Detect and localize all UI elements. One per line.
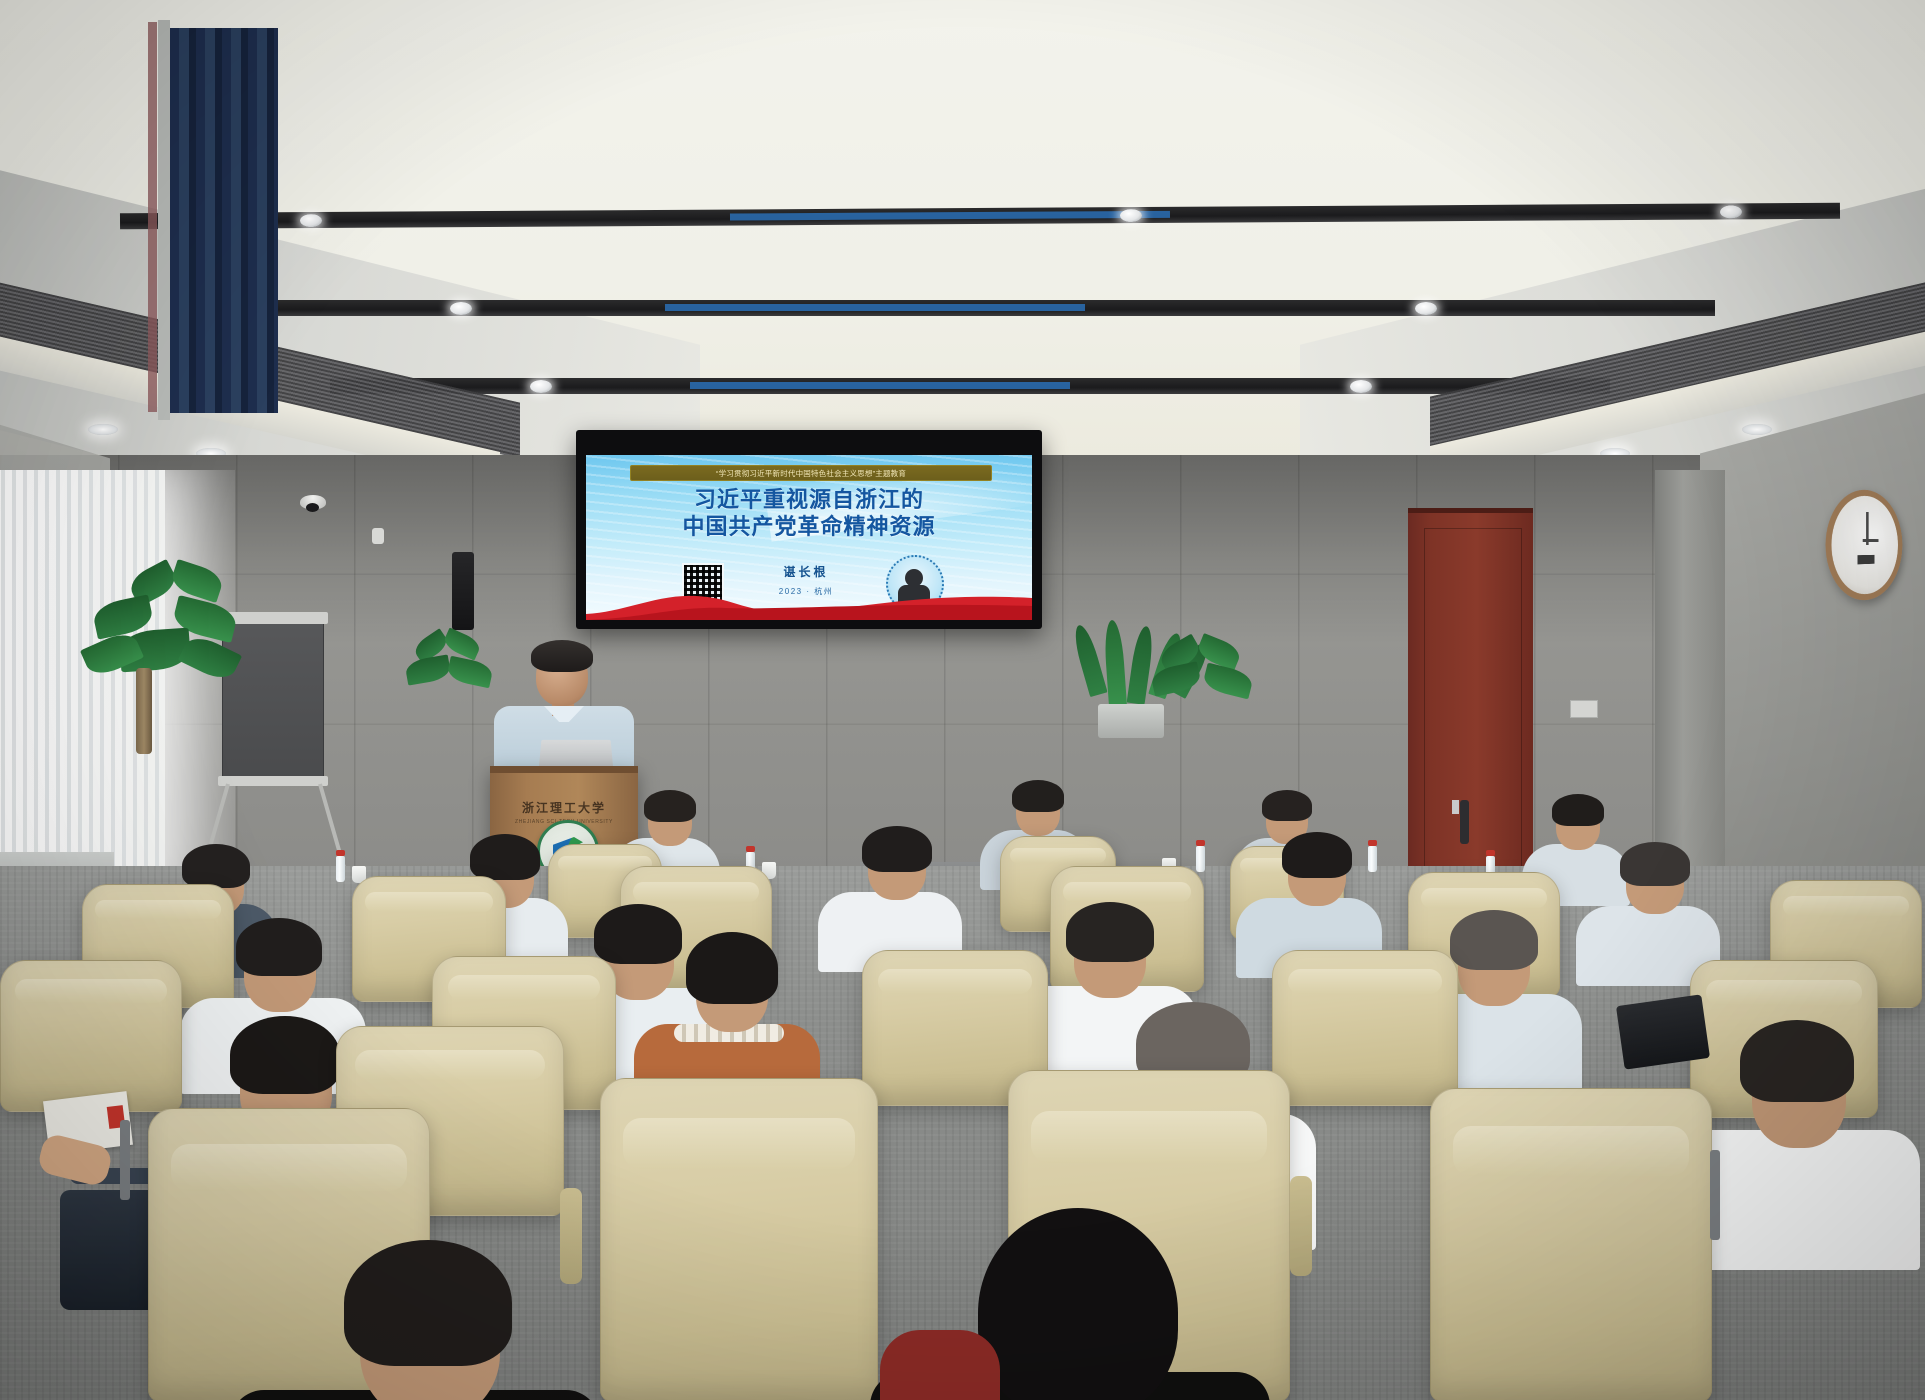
- audience-chair[interactable]: [0, 960, 182, 1112]
- slide-title-block: 习近平重视源自浙江的 中国共产党革命精神资源: [586, 487, 1032, 541]
- door-handle[interactable]: [1460, 800, 1469, 844]
- water-bottle: [1368, 846, 1377, 872]
- potted-plant-left: [70, 560, 270, 760]
- window-frame: [158, 20, 170, 420]
- bottle-cap: [1196, 840, 1205, 846]
- chair-arm: [560, 1188, 582, 1284]
- bottle-cap: [1368, 840, 1377, 846]
- potted-plant-right-2: [1150, 640, 1280, 770]
- light-switch[interactable]: [1570, 700, 1598, 718]
- door-panel: [1424, 528, 1522, 902]
- slide-title-line2: 中国共产党革命精神资源: [586, 514, 1032, 541]
- door-lock-plate: [1452, 800, 1459, 814]
- audience-chair[interactable]: [1430, 1088, 1712, 1400]
- slide-red-ribbon: [586, 584, 1032, 620]
- ceiling-light-strip-2: [235, 300, 1715, 316]
- speaker-hair: [531, 640, 593, 672]
- projection-screen-bottom-bar: [218, 776, 328, 786]
- chair-leg: [120, 1120, 130, 1200]
- podium-university-name: 浙江理工大学: [490, 799, 638, 816]
- audience-chair[interactable]: [1272, 950, 1458, 1106]
- wall-camera-icon: [372, 528, 384, 544]
- presentation-slide: “学习贯彻习近平新时代中国特色社会主义思想”主题教育 习近平重视源自浙江的 中国…: [586, 455, 1032, 620]
- wall-speaker-left: [452, 552, 474, 630]
- bottle-cap: [336, 850, 345, 856]
- bottle-cap: [746, 846, 755, 852]
- water-bottle: [1196, 846, 1205, 872]
- slide-banner-text: “学习贯彻习近平新时代中国特色社会主义思想”主题教育: [716, 468, 906, 479]
- ceiling-light-strip-3: [330, 378, 1610, 394]
- attendee-laptop: [1616, 994, 1710, 1069]
- chair-leg: [1710, 1150, 1720, 1240]
- water-bottle: [336, 856, 345, 882]
- slide-title-line1: 习近平重视源自浙江的: [586, 487, 1032, 514]
- red-drape-edge: [148, 22, 157, 412]
- speaker-name: 谌长根: [736, 563, 876, 580]
- navy-curtain: [170, 28, 278, 413]
- slide-banner: “学习贯彻习近平新时代中国特色社会主义思想”主题教育: [630, 465, 992, 481]
- downlight-icon: [88, 424, 118, 435]
- chair-arm: [1290, 1176, 1312, 1276]
- dome-camera-lens-icon: [306, 503, 319, 512]
- attendee-shoulder: [880, 1330, 1000, 1400]
- clock-date-window: [1858, 555, 1875, 565]
- conference-room-photo: “学习贯彻习近平新时代中国特色社会主义思想”主题教育 习近平重视源自浙江的 中国…: [0, 0, 1925, 1400]
- wall-pillar-right: [1655, 470, 1725, 900]
- bottle-cap: [1486, 850, 1495, 856]
- downlight-icon: [1742, 424, 1772, 435]
- audience-chair[interactable]: [600, 1078, 878, 1400]
